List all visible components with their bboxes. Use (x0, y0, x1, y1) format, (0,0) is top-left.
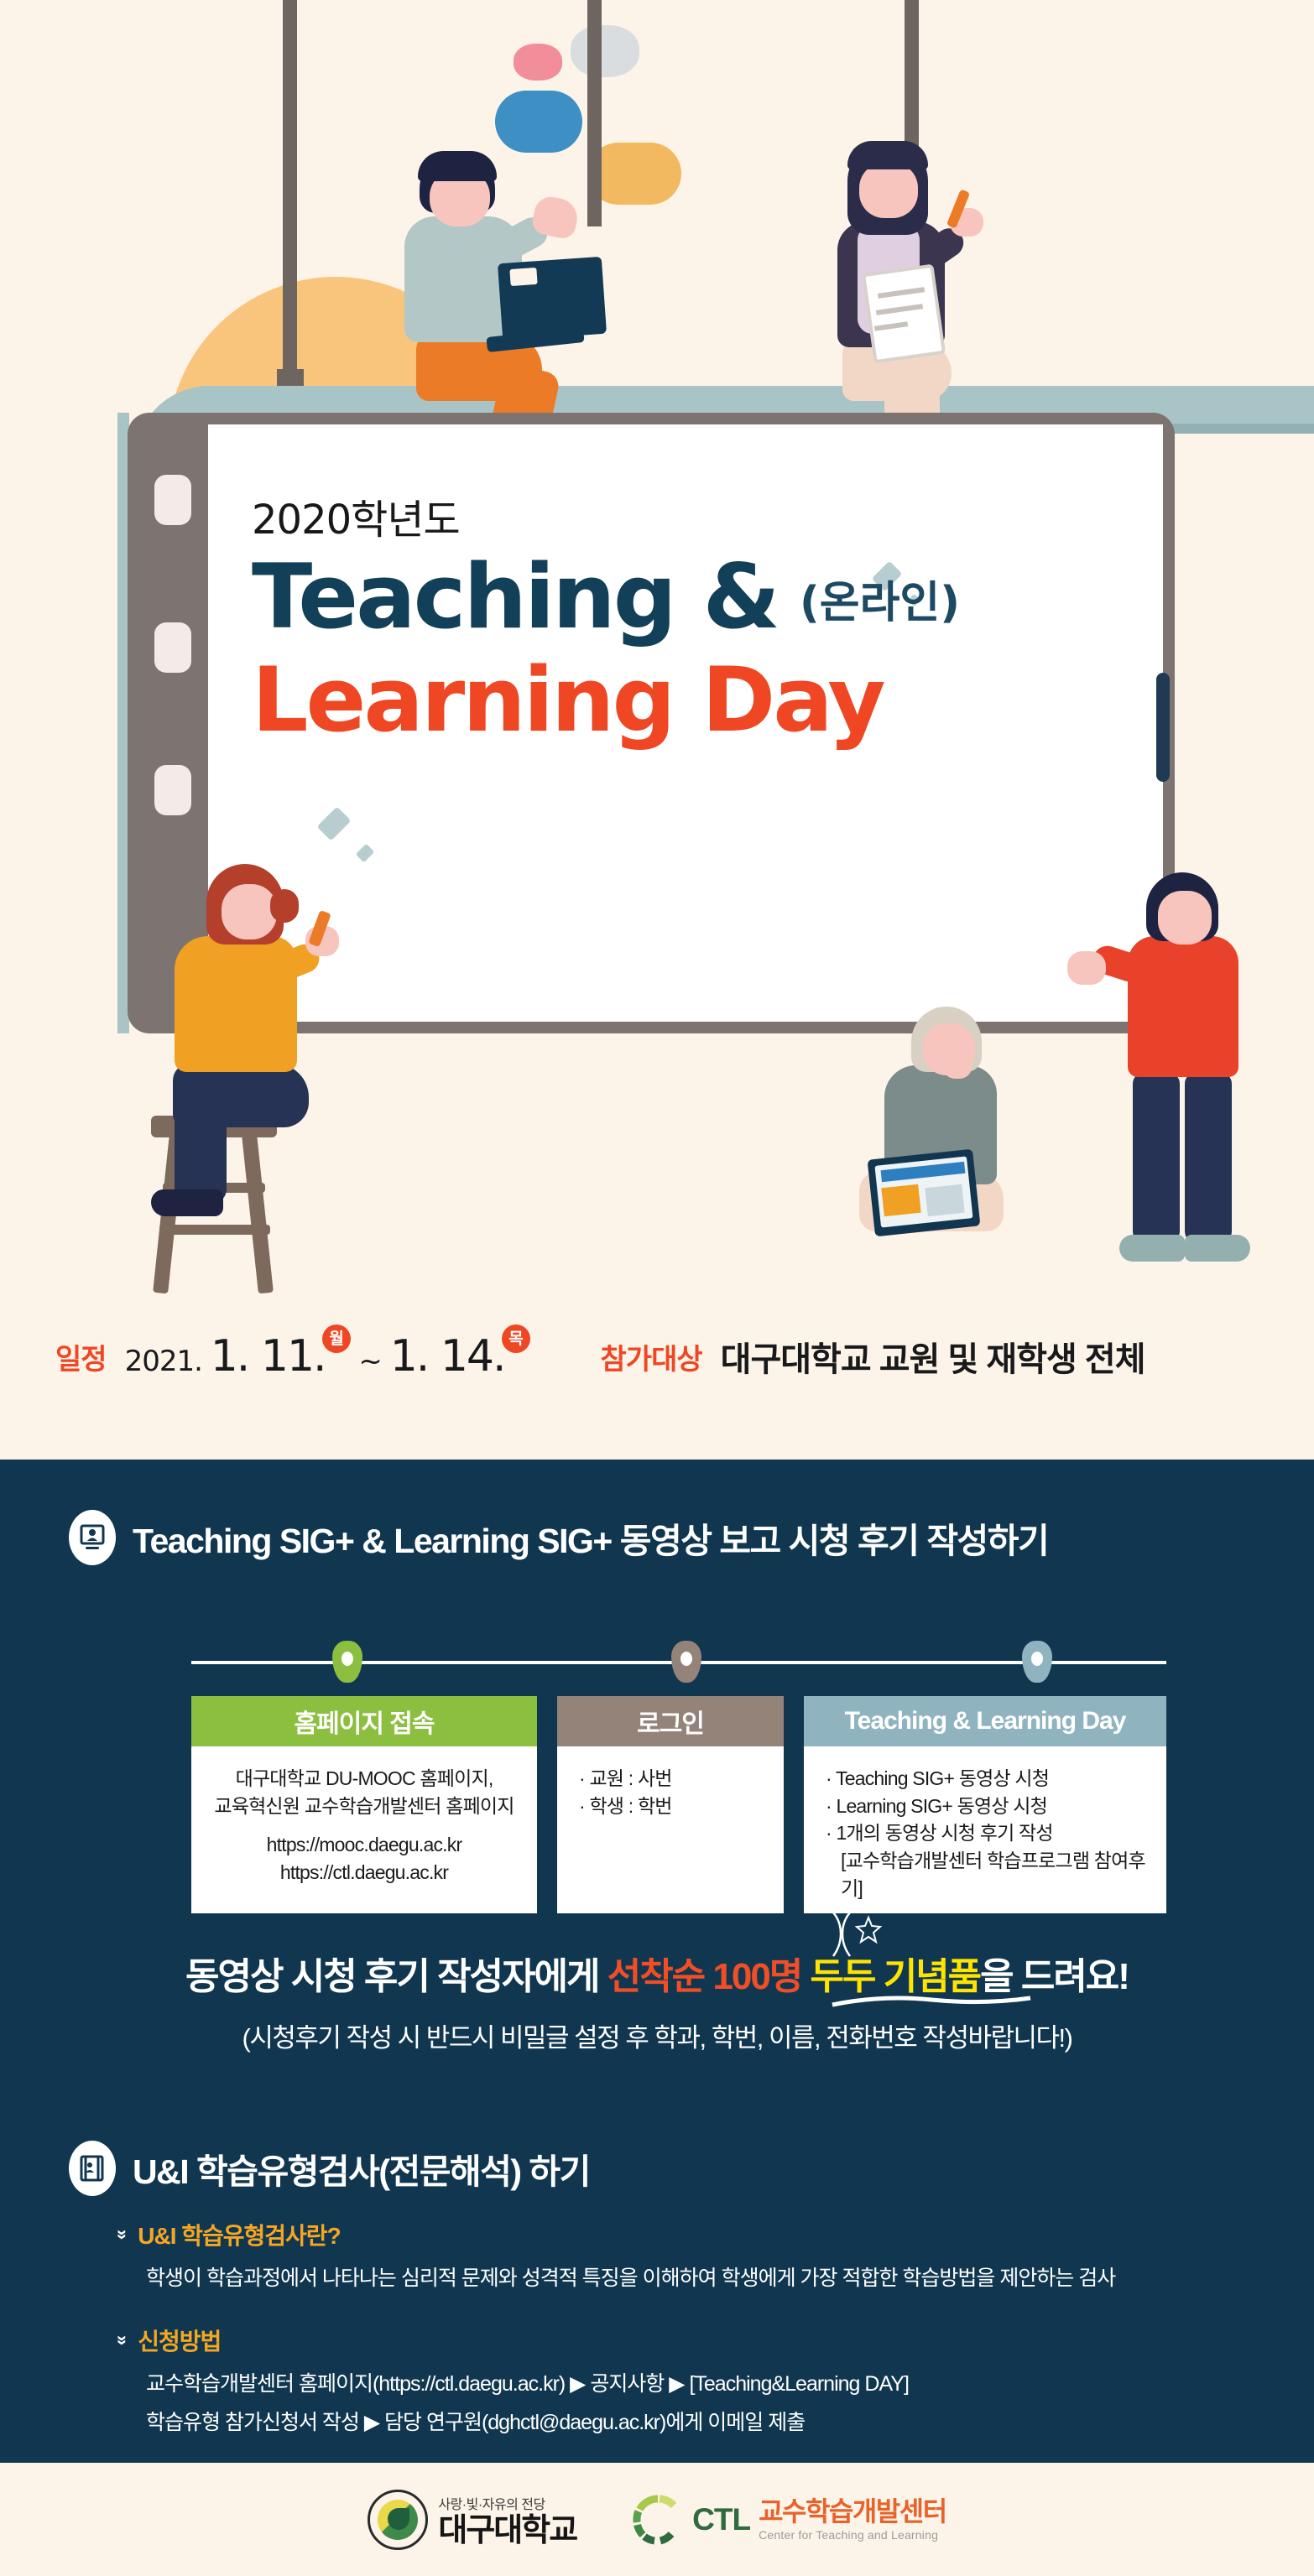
section-2-item-2-line-2: 학습유형 참가신청서 작성 ▶ 담당 연구원(dghctl@daegu.ac.k… (146, 2406, 1260, 2439)
step-2-body: · 교원 : 사번 · 학생 : 학번 (557, 1746, 784, 1913)
device-button (154, 622, 191, 673)
step-3-line-2: · Learning SIG+ 동영상 시청 (826, 1793, 1155, 1820)
university-name: 대구대학교 (438, 2515, 576, 2547)
illustration-person-tablet (847, 1007, 1082, 1283)
step-1-body: 대구대학교 DU-MOOC 홈페이지, 교육혁신원 교수학습개발센터 홈페이지 … (191, 1746, 537, 1913)
prize-part-1: 동영상 시청 후기 작성자에게 (185, 1956, 607, 1997)
step-1-line-2: 교육혁신원 교수학습개발센터 홈페이지 (203, 1793, 525, 1820)
university-tagline: 사랑·빛·자유의 전당 (438, 2493, 576, 2513)
step-box-homepage: 홈페이지 접속 대구대학교 DU-MOOC 홈페이지, 교육혁신원 교수학습개발… (191, 1696, 537, 1913)
prize-note: (시청후기 작성 시 반드시 비밀글 설정 후 학과, 학번, 이름, 전화번호… (0, 2017, 1314, 2054)
section-2-header: U&I 학습유형검사(전문해석) 하기 (69, 2141, 1260, 2196)
prize-highlight-gift: 두두 기념품 (811, 1956, 981, 1997)
section-2-item-2: » 신청방법 교수학습개발센터 홈페이지(https://ctl.daegu.a… (69, 2324, 1260, 2439)
step-box-list: 홈페이지 접속 대구대학교 DU-MOOC 홈페이지, 교육혁신원 교수학습개발… (191, 1696, 1166, 1913)
step-2-heading: 로그인 (557, 1696, 784, 1746)
weekday-badge-start: 월 (322, 1324, 351, 1353)
poster: 2020학년도 Teaching & (온라인) Learning Day (0, 0, 1314, 2576)
schedule-value: 2021. 1. 11.월 ~ 1. 14.목 (125, 1331, 530, 1382)
chevron-right-icon: » (112, 2230, 133, 2240)
speech-blob-pink (514, 44, 562, 81)
ctl-abbreviation: CTL (692, 2502, 750, 2537)
section-2-item-1-desc: 학생이 학습과정에서 나타나는 심리적 문제와 성격적 특징을 이해하여 학생에… (146, 2261, 1260, 2295)
speech-blob-grey (571, 25, 639, 77)
section-2-item-2-line-1: 교수학습개발센터 홈페이지(https://ctl.daegu.ac.kr) ▶… (146, 2367, 1260, 2401)
document-card-icon (69, 2141, 116, 2196)
ctl-ring-icon (632, 2494, 684, 2546)
step-3-body: · Teaching SIG+ 동영상 시청 · Learning SIG+ 동… (804, 1746, 1166, 1913)
speech-blob-blue (495, 91, 582, 153)
university-emblem-icon (368, 2490, 428, 2550)
sparkle-icon (818, 1909, 885, 1959)
prize-highlight-count: 선착순 100명 (607, 1956, 802, 1997)
section-2-item-1: » U&I 학습유형검사란? 학생이 학습과정에서 나타나는 심리적 문제와 성… (69, 2218, 1260, 2295)
prize-text: 동영상 시청 후기 작성자에게 선착순 100명 두두 기념품을 드려요! (0, 1946, 1314, 2000)
step-2-line-1: · 교원 : 사번 (579, 1765, 772, 1793)
device-side-button (1156, 673, 1170, 782)
step-2-line-2: · 학생 : 학번 (579, 1793, 772, 1820)
academic-year-label: 2020학년도 (252, 487, 1133, 545)
event-title-line2: Learning Day (252, 652, 1133, 750)
section-1-header: Teaching SIG+ & Learning SIG+ 동영상 보고 시청 … (69, 1510, 1048, 1565)
section-2-item-2-title: 신청방법 (138, 2324, 221, 2357)
section-2-item-1-title: U&I 학습유형검사란? (138, 2218, 340, 2251)
step-3-line-3: · 1개의 동영상 시청 후기 작성 (826, 1819, 1155, 1847)
illustration-person-standing (1081, 872, 1274, 1292)
weekday-badge-end: 목 (502, 1324, 530, 1353)
schedule-tilde: ~ (358, 1345, 382, 1378)
prize-announcement: 동영상 시청 후기 작성자에게 선착순 100명 두두 기념품을 드려요! (시… (0, 1946, 1314, 2054)
footer-logos: 사랑·빛·자유의 전당 대구대학교 CTL 교수학습개발센터 C (0, 2463, 1314, 2576)
step-1-url-2[interactable]: https://ctl.daegu.ac.kr (280, 1861, 448, 1883)
device-button (154, 475, 191, 525)
ctl-logo: CTL 교수학습개발센터 Center for Teaching and Lea… (632, 2494, 946, 2546)
step-1-heading: 홈페이지 접속 (191, 1696, 537, 1746)
section-2-title: U&I 학습유형검사(전문해석) 하기 (133, 2143, 590, 2194)
schedule-start: 1. 11. (211, 1331, 326, 1382)
monitor-person-icon (69, 1510, 116, 1565)
hero-title-block: 2020학년도 Teaching & (온라인) Learning Day (252, 487, 1133, 750)
underline-squiggle (831, 1995, 1032, 2008)
schedule-label: 일정 (55, 1336, 107, 1377)
section-1-title: Teaching SIG+ & Learning SIG+ 동영상 보고 시청 … (133, 1512, 1048, 1563)
ctl-english-name: Center for Teaching and Learning (759, 2528, 946, 2542)
chevron-right-icon: » (112, 2335, 133, 2345)
step-3-line-1: · Teaching SIG+ 동영상 시청 (826, 1765, 1155, 1793)
hanging-strap (283, 0, 297, 394)
daegu-university-logo: 사랑·빛·자유의 전당 대구대학교 (368, 2490, 576, 2550)
prize-part-2: 을 드려요! (980, 1956, 1129, 1997)
step-1-line-1: 대구대학교 DU-MOOC 홈페이지, (203, 1765, 525, 1793)
event-title-line1: Teaching & (252, 550, 778, 643)
prize-spacer (801, 1956, 810, 1997)
target-label: 참가대상 (601, 1336, 702, 1377)
illustration-person-stool (126, 864, 378, 1283)
hero-panel: 2020학년도 Teaching & (온라인) Learning Day (0, 0, 1314, 1460)
step-box-tlday: Teaching & Learning Day · Teaching SIG+ … (804, 1696, 1166, 1913)
step-3-line-4: [교수학습개발센터 학습프로그램 참여후기] (826, 1847, 1155, 1902)
section-2-block: U&I 학습유형검사(전문해석) 하기 » U&I 학습유형검사란? 학생이 학… (69, 2141, 1260, 2439)
step-1-url-1[interactable]: https://mooc.daegu.ac.kr (203, 1831, 525, 1859)
step-box-login: 로그인 · 교원 : 사번 · 학생 : 학번 (557, 1696, 784, 1913)
device-button (154, 765, 191, 815)
target-value: 대구대학교 교원 및 재학생 전체 (721, 1332, 1145, 1381)
step-3-heading: Teaching & Learning Day (804, 1696, 1166, 1746)
online-badge-label: (온라인) (800, 567, 960, 643)
event-info-strip: 일정 2021. 1. 11.월 ~ 1. 14.목 참가대상 대구대학교 교원… (0, 1302, 1314, 1411)
ctl-korean-name: 교수학습개발센터 (759, 2498, 946, 2525)
schedule-year: 2021. (125, 1345, 202, 1378)
schedule-end: 1. 14. (390, 1331, 505, 1382)
